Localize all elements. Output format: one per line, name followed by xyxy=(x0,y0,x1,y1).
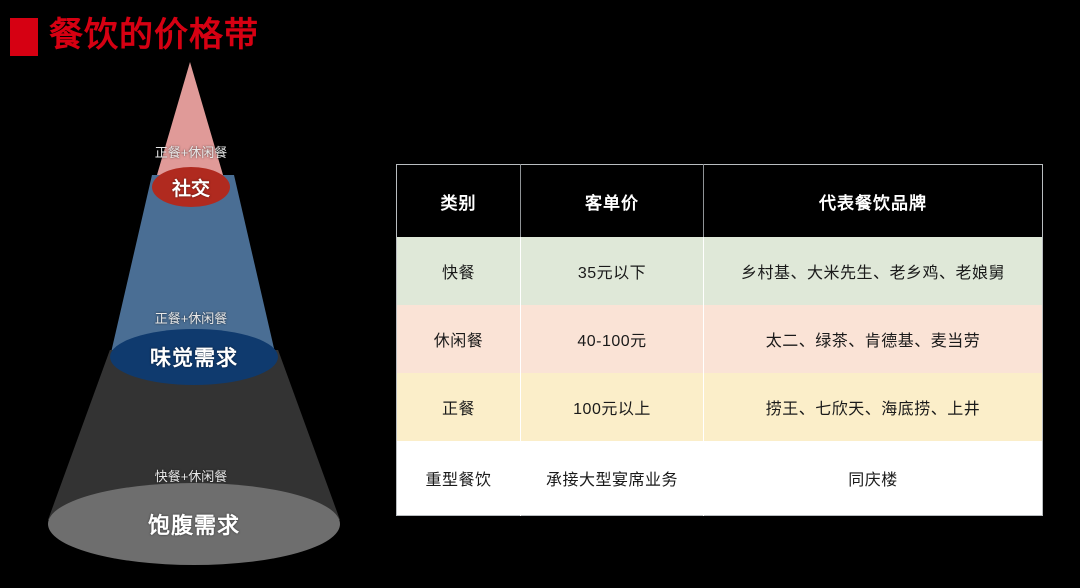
cell-category: 休闲餐 xyxy=(397,305,521,373)
page-title: 餐饮的价格带 xyxy=(49,12,259,58)
cell-category: 快餐 xyxy=(397,237,521,305)
cell-price: 40-100元 xyxy=(521,305,704,373)
cell-category: 正餐 xyxy=(397,373,521,441)
cone-caption-social: 正餐+休闲餐 xyxy=(100,142,282,161)
cone-caption-taste: 正餐+休闲餐 xyxy=(100,308,282,327)
cell-price: 承接大型宴席业务 xyxy=(521,441,704,516)
table-header-row: 类别 客单价 代表餐饮品牌 xyxy=(397,165,1043,238)
cell-price: 35元以下 xyxy=(521,237,704,305)
table-row: 正餐 100元以上 捞王、七欣天、海底捞、上井 xyxy=(397,373,1043,441)
cone-disc-taste: 味觉需求 xyxy=(110,329,278,385)
table-header-price: 客单价 xyxy=(521,165,704,238)
slide-canvas: 餐饮的价格带 快餐+休闲餐 饱腹需求 正餐+休闲餐 味觉需求 正餐+休闲餐 社交… xyxy=(0,0,1080,588)
cell-brands: 乡村基、大米先生、老乡鸡、老娘舅 xyxy=(704,237,1043,305)
cell-brands: 太二、绿茶、肯德基、麦当劳 xyxy=(704,305,1043,373)
table-header-category: 类别 xyxy=(397,165,521,238)
price-band-table: 类别 客单价 代表餐饮品牌 快餐 35元以下 乡村基、大米先生、老乡鸡、老娘舅 … xyxy=(396,164,1043,516)
cell-category: 重型餐饮 xyxy=(397,441,521,516)
cell-brands: 捞王、七欣天、海底捞、上井 xyxy=(704,373,1043,441)
table-header-brands: 代表餐饮品牌 xyxy=(704,165,1043,238)
cell-brands: 同庆楼 xyxy=(704,441,1043,516)
demand-cone-diagram: 快餐+休闲餐 饱腹需求 正餐+休闲餐 味觉需求 正餐+休闲餐 社交 xyxy=(0,55,390,588)
cone-label-satiety: 饱腹需求 xyxy=(148,508,240,540)
cone-label-social: 社交 xyxy=(172,174,210,201)
red-square-marker-icon xyxy=(10,18,38,56)
table-row: 快餐 35元以下 乡村基、大米先生、老乡鸡、老娘舅 xyxy=(397,237,1043,305)
table-row: 休闲餐 40-100元 太二、绿茶、肯德基、麦当劳 xyxy=(397,305,1043,373)
cone-disc-satiety: 饱腹需求 xyxy=(48,483,340,565)
cone-label-taste: 味觉需求 xyxy=(150,342,238,372)
cone-disc-social: 社交 xyxy=(152,167,230,207)
cell-price: 100元以上 xyxy=(521,373,704,441)
table-row: 重型餐饮 承接大型宴席业务 同庆楼 xyxy=(397,441,1043,516)
